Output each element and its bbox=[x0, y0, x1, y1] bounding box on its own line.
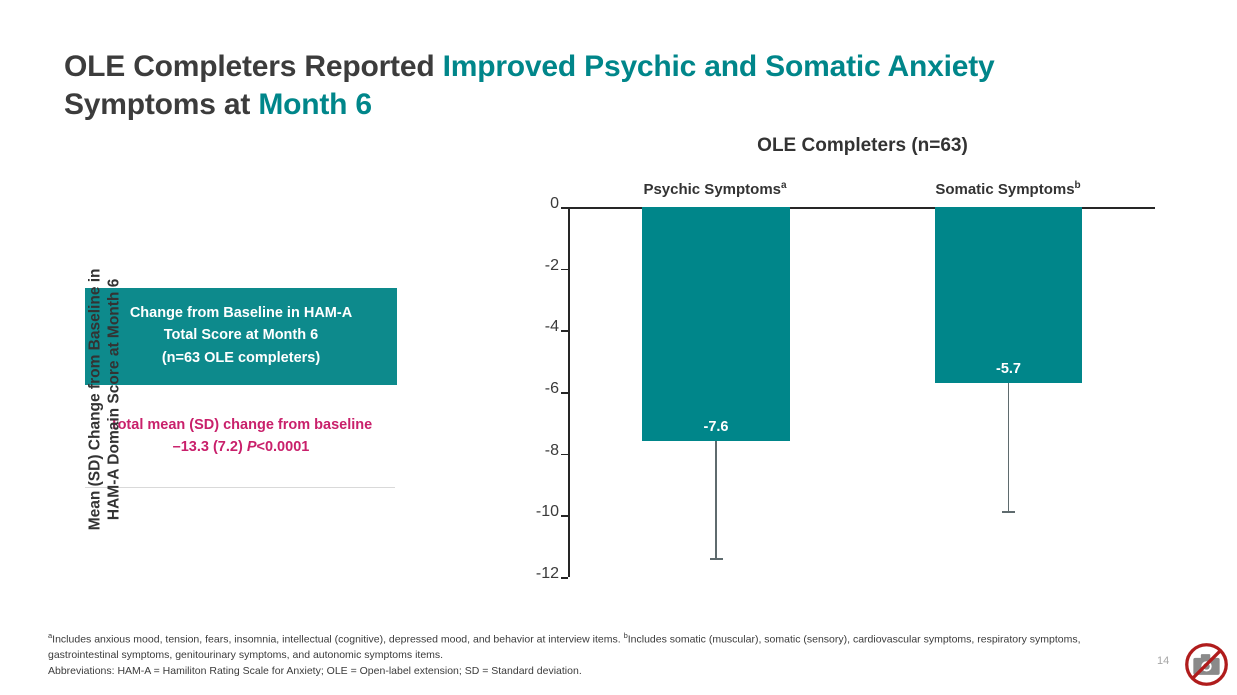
footnote-b-text: Includes somatic (muscular), somatic (se… bbox=[628, 634, 1081, 646]
title-segment-plain-1: OLE Completers Reported bbox=[64, 50, 443, 83]
y-axis-tick-mark bbox=[561, 330, 568, 332]
no-photography-icon bbox=[1183, 641, 1230, 688]
category-header-somatic-superscript: b bbox=[1075, 180, 1081, 191]
y-axis-tick-mark bbox=[561, 207, 568, 209]
y-axis-tick-label: -10 bbox=[536, 504, 559, 520]
plot-area: 0-2-4-6-8-10-12 -7.6-5.7 bbox=[568, 207, 1155, 577]
y-axis-tick-label: -6 bbox=[545, 381, 559, 397]
y-axis-tick-mark bbox=[561, 454, 568, 456]
chart-title: OLE Completers (n=63) bbox=[570, 135, 1155, 157]
category-header-somatic: Somatic Symptomsb bbox=[893, 180, 1123, 198]
callout-line-3: (n=63 OLE completers) bbox=[95, 347, 387, 369]
y-axis-tick-mark bbox=[561, 269, 568, 271]
y-axis-tick-mark bbox=[561, 577, 568, 579]
error-bar-cap bbox=[710, 558, 723, 560]
y-axis-title-line-1: Mean (SD) Change from Baseline in bbox=[86, 214, 105, 584]
callout-box: Change from Baseline in HAM-A Total Scor… bbox=[85, 288, 397, 385]
footnote-line-3: Abbreviations: HAM-A = Hamiliton Rating … bbox=[48, 664, 1123, 680]
category-header-somatic-label: Somatic Symptoms bbox=[935, 181, 1074, 198]
title-segment-accent-1: Improved Psychic and Somatic Anxiety bbox=[443, 50, 995, 83]
category-header-psychic: Psychic Symptomsa bbox=[600, 180, 830, 198]
footnote-line-1: aIncludes anxious mood, tension, fears, … bbox=[48, 630, 1123, 648]
category-header-psychic-superscript: a bbox=[781, 180, 787, 191]
y-axis-tick-mark bbox=[561, 515, 568, 517]
y-axis-tick-label: -12 bbox=[536, 566, 559, 582]
total-change-label: Total mean (SD) change from baseline bbox=[85, 415, 397, 437]
y-axis-tick-mark bbox=[561, 392, 568, 394]
bar-value-label: -5.7 bbox=[935, 361, 1082, 377]
footnote-line-2: gastrointestinal symptoms, genitourinary… bbox=[48, 648, 1123, 664]
p-value: <0.0001 bbox=[257, 439, 310, 455]
page-title: OLE Completers Reported Improved Psychic… bbox=[64, 48, 1104, 125]
error-bar-line bbox=[715, 441, 717, 558]
bar-somatic-symptoms[interactable]: -5.7 bbox=[935, 207, 1082, 383]
total-change-value: –13.3 (7.2) bbox=[173, 439, 247, 455]
p-symbol: P bbox=[247, 439, 257, 455]
total-mean-change-text: Total mean (SD) change from baseline –13… bbox=[85, 415, 397, 459]
page-number: 14 bbox=[1157, 655, 1169, 667]
left-summary-panel: Change from Baseline in HAM-A Total Scor… bbox=[85, 288, 397, 488]
total-change-value-line: –13.3 (7.2) P<0.0001 bbox=[85, 437, 397, 459]
title-segment-plain-2: Symptoms at bbox=[64, 88, 258, 121]
callout-line-1: Change from Baseline in HAM-A bbox=[95, 302, 387, 324]
error-bar-line bbox=[1008, 383, 1010, 513]
y-axis-tick-label: -4 bbox=[545, 319, 559, 335]
title-segment-accent-2: Month 6 bbox=[258, 88, 372, 121]
y-axis-title: Mean (SD) Change from Baseline in HAM-A … bbox=[86, 214, 125, 584]
panel-divider bbox=[85, 487, 395, 488]
bar-psychic-symptoms[interactable]: -7.6 bbox=[642, 207, 790, 441]
y-axis-line bbox=[568, 207, 570, 577]
y-axis-tick-label: -2 bbox=[545, 258, 559, 274]
bar-value-label: -7.6 bbox=[642, 419, 790, 435]
y-axis-tick-label: -8 bbox=[545, 443, 559, 459]
callout-line-2: Total Score at Month 6 bbox=[95, 324, 387, 346]
footnotes: aIncludes anxious mood, tension, fears, … bbox=[48, 630, 1123, 680]
category-header-psychic-label: Psychic Symptoms bbox=[643, 181, 781, 198]
y-axis-tick-label: 0 bbox=[550, 196, 559, 212]
y-axis-title-line-2: HAM-A Domain Score at Month 6 bbox=[105, 214, 124, 584]
error-bar-cap bbox=[1002, 511, 1015, 513]
footnote-a-text: Includes anxious mood, tension, fears, i… bbox=[52, 634, 623, 646]
